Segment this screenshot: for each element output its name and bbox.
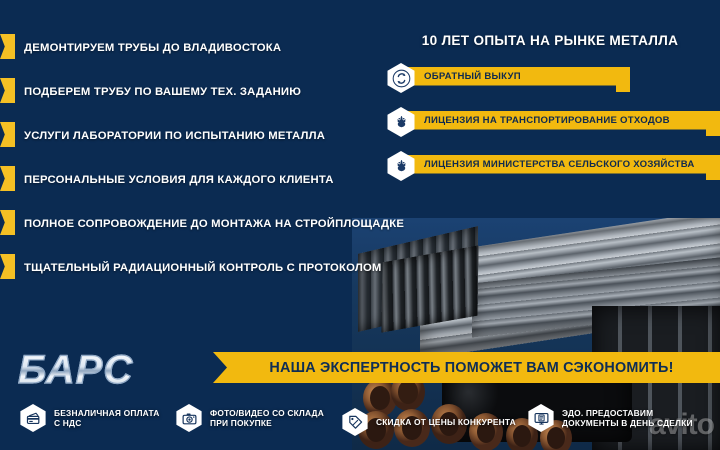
ribbon-tab-icon [0, 166, 15, 191]
price-tag-icon [341, 408, 369, 436]
badge-item-agriculture-license: ЛИЦЕНЗИЯ МИНИСТЕРСТВА СЕЛЬСКОГО ХОЗЯЙСТВ… [386, 155, 720, 180]
badge-label: ЛИЦЕНЗИЯ НА ТРАНСПОРТИРОВАНИЕ ОТХОДОВ [424, 111, 670, 130]
feature-item: ТЩАТЕЛЬНЫЙ РАДИАЦИОННЫЙ КОНТРОЛЬ С ПРОТО… [0, 250, 390, 287]
right-column: 10 ЛЕТ ОПЫТА НА РЫНКЕ МЕТАЛЛА ОБРАТНЫЙ В… [386, 33, 720, 199]
badge-list: ОБРАТНЫЙ ВЫКУП ЛИЦЕНЗИЯ НА ТРАНСПОРТИРОВ… [386, 67, 720, 180]
feature-label: ПЕРСОНАЛЬНЫЕ УСЛОВИЯ ДЛЯ КАЖДОГО КЛИЕНТА [24, 174, 334, 186]
cta-text: НАША ЭКСПЕРТНОСТЬ ПОМОЖЕТ ВАМ СЭКОНОМИТЬ… [269, 360, 673, 376]
logo-text: БАРС [18, 350, 133, 390]
ribbon-tab-icon [0, 122, 15, 147]
feature-item: ПЕРСОНАЛЬНЫЕ УСЛОВИЯ ДЛЯ КАЖДОГО КЛИЕНТА [0, 162, 390, 199]
headline: 10 ЛЕТ ОПЫТА НА РЫНКЕ МЕТАЛЛА [386, 33, 720, 48]
feature-item: УСЛУГИ ЛАБОРАТОРИИ ПО ИСПЫТАНИЮ МЕТАЛЛА [0, 118, 390, 155]
ribbon-tab-icon [0, 34, 15, 59]
camera-icon [175, 404, 203, 432]
benefit-label: БЕЗНАЛИЧНАЯ ОПЛАТА С НДС [54, 408, 160, 429]
feature-label: УСЛУГИ ЛАБОРАТОРИИ ПО ИСПЫТАНИЮ МЕТАЛЛА [24, 130, 325, 142]
feature-item: ПОЛНОЕ СОПРОВОЖДЕНИЕ ДО МОНТАЖА НА СТРОЙ… [0, 206, 390, 243]
credit-card-icon [19, 404, 47, 432]
benefits-bar: БЕЗНАЛИЧНАЯ ОПЛАТА С НДС ФОТО/ВИДЕО СО С… [0, 390, 720, 450]
badge-label: ОБРАТНЫЙ ВЫКУП [424, 67, 521, 86]
promo-banner: avito ДЕМОНТИРУЕМ ТРУБЫ ДО ВЛАДИВОСТОКА … [0, 0, 720, 450]
feature-item: ПОДБЕРЕМ ТРУБУ ПО ВАШЕМУ ТЕХ. ЗАДАНИЮ [0, 74, 390, 111]
benefit-item-competitor-discount: СКИДКА ОТ ЦЕНЫ КОНКУРЕНТА [341, 408, 516, 436]
badge-item-buyback: ОБРАТНЫЙ ВЫКУП [386, 67, 720, 92]
badge-item-waste-license: ЛИЦЕНЗИЯ НА ТРАНСПОРТИРОВАНИЕ ОТХОДОВ [386, 111, 720, 136]
ribbon-tab-icon [0, 210, 15, 235]
company-logo[interactable]: БАРС [18, 348, 188, 392]
benefit-label: СКИДКА ОТ ЦЕНЫ КОНКУРЕНТА [376, 417, 516, 428]
benefit-label: ЭДО. ПРЕДОСТАВИМ ДОКУМЕНТЫ В ДЕНЬ СДЕЛКИ [562, 408, 693, 429]
ribbon-tab-icon [0, 254, 15, 279]
cta-banner: НАША ЭКСПЕРТНОСТЬ ПОМОЖЕТ ВАМ СЭКОНОМИТЬ… [213, 352, 720, 383]
benefit-item-edo-documents: ЭДО. ПРЕДОСТАВИМ ДОКУМЕНТЫ В ДЕНЬ СДЕЛКИ [527, 404, 693, 432]
feature-label: ПОДБЕРЕМ ТРУБУ ПО ВАШЕМУ ТЕХ. ЗАДАНИЮ [24, 86, 301, 98]
ribbon-tab-icon [0, 78, 15, 103]
badge-label: ЛИЦЕНЗИЯ МИНИСТЕРСТВА СЕЛЬСКОГО ХОЗЯЙСТВ… [424, 155, 695, 174]
feature-label: ДЕМОНТИРУЕМ ТРУБЫ ДО ВЛАДИВОСТОКА [24, 42, 281, 54]
document-monitor-icon [527, 404, 555, 432]
feature-list: ДЕМОНТИРУЕМ ТРУБЫ ДО ВЛАДИВОСТОКА ПОДБЕР… [0, 30, 390, 294]
benefit-label: ФОТО/ВИДЕО СО СКЛАДА ПРИ ПОКУПКЕ [210, 408, 324, 429]
feature-label: ПОЛНОЕ СОПРОВОЖДЕНИЕ ДО МОНТАЖА НА СТРОЙ… [24, 218, 404, 230]
benefit-item-cashless-payment: БЕЗНАЛИЧНАЯ ОПЛАТА С НДС [19, 404, 160, 432]
benefit-item-photo-video: ФОТО/ВИДЕО СО СКЛАДА ПРИ ПОКУПКЕ [175, 404, 324, 432]
feature-item: ДЕМОНТИРУЕМ ТРУБЫ ДО ВЛАДИВОСТОКА [0, 30, 390, 67]
feature-label: ТЩАТЕЛЬНЫЙ РАДИАЦИОННЫЙ КОНТРОЛЬ С ПРОТО… [24, 262, 382, 274]
